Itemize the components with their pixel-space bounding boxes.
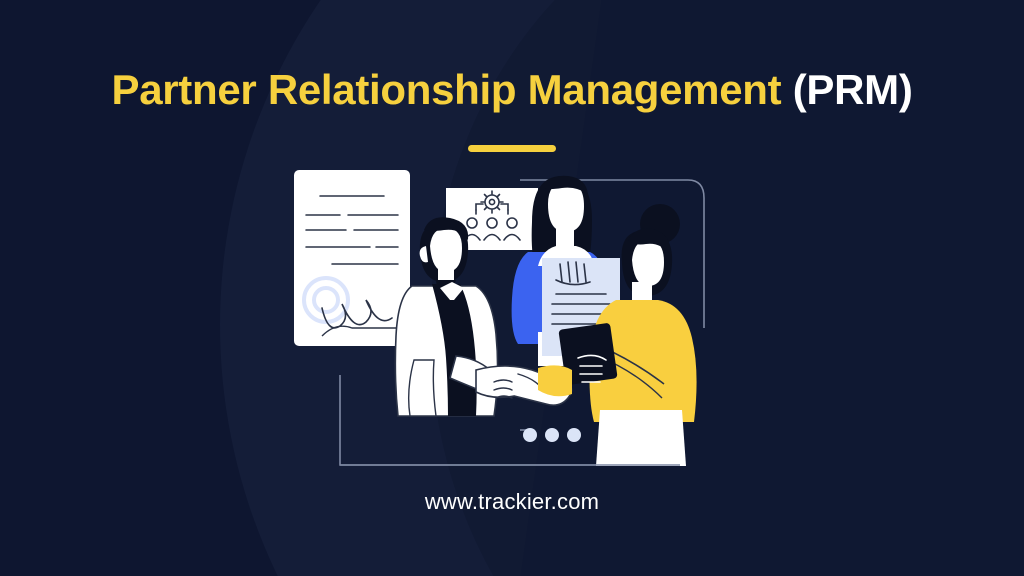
contract-document — [294, 170, 410, 346]
page-title-main: Partner Relationship Management — [111, 66, 781, 113]
website-url: www.trackier.com — [0, 489, 1024, 515]
title-divider — [468, 145, 556, 152]
page-title-abbreviation: (PRM) — [793, 66, 913, 113]
illustration — [280, 160, 740, 480]
page-title: Partner Relationship Management (PRM) — [0, 66, 1024, 114]
three-dots — [523, 428, 581, 442]
slide-canvas: Partner Relationship Management (PRM) — [0, 0, 1024, 576]
